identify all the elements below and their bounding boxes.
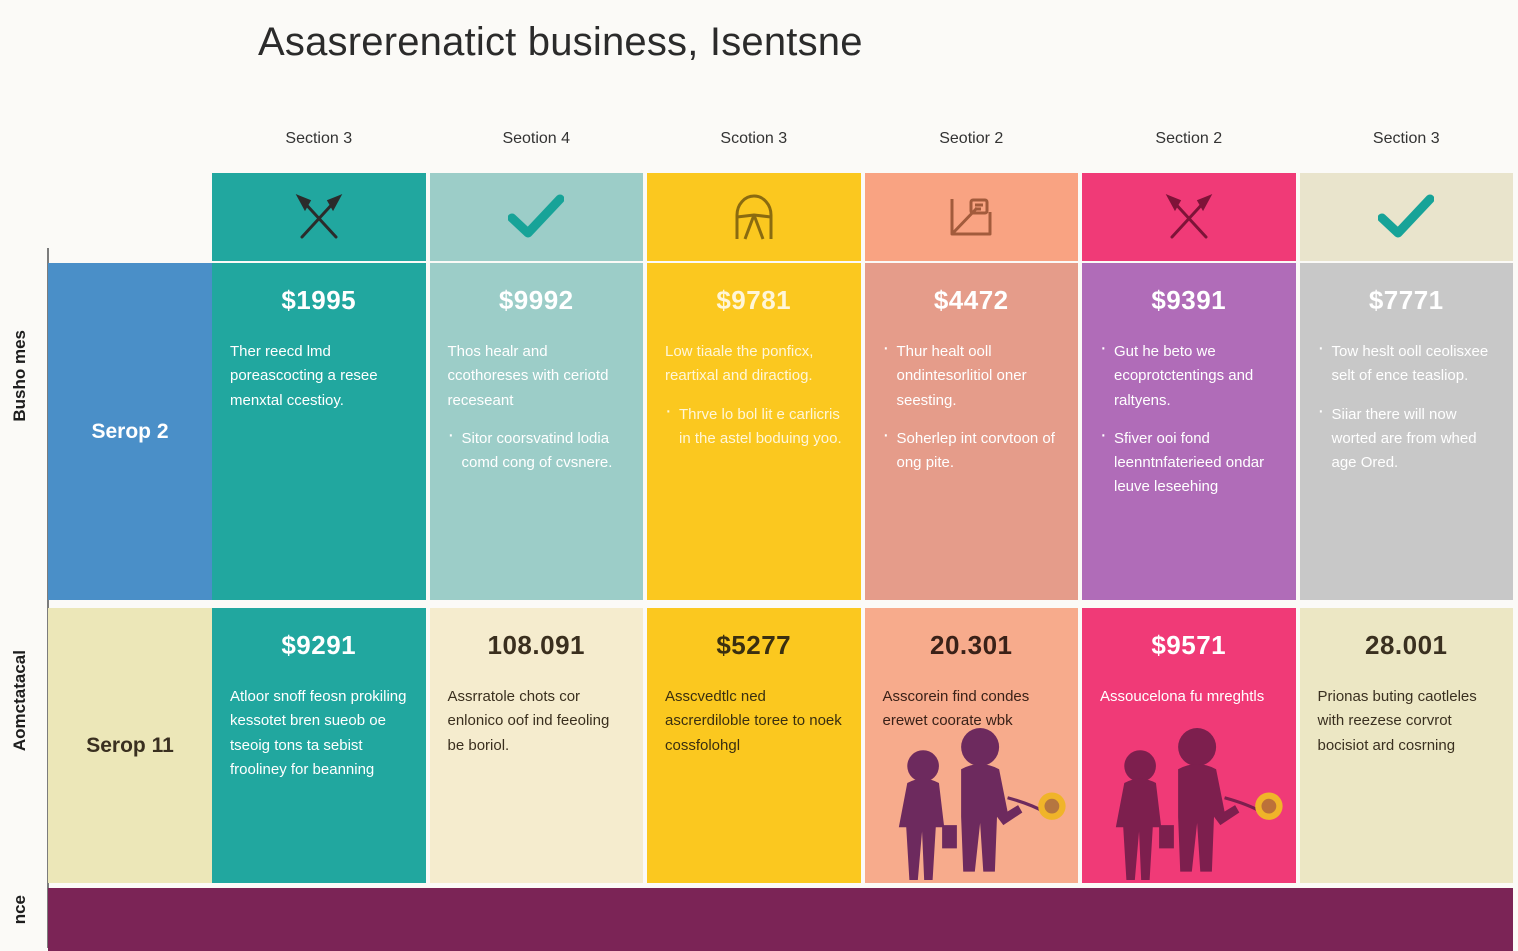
column-header-4: Seotior 2 [865,130,1079,148]
column-header-2: Seotion 4 [430,130,644,148]
cell-price: 28.001 [1318,630,1496,661]
column-header-6: Section 3 [1300,130,1514,148]
cell-blurb-list: Asscorein find condes erewet coorate wbk [883,685,1061,734]
row-label-text: Serop 2 [91,420,168,444]
column-header-1: Section 3 [212,130,426,148]
cell-price: $9571 [1100,630,1278,661]
column-icon-cell-2[interactable] [430,173,644,261]
cell-blurb-line: Atloor snoff feosn prokiling kessotet br… [230,685,408,782]
cell-price: $9291 [230,630,408,661]
arch-umbrella-icon [731,191,777,243]
data-cell-r1-c5[interactable]: $9391Gut he beto we ecoprotctentings and… [1082,263,1296,600]
crossed-tools-icon [293,191,345,243]
checkmark-icon [1378,194,1434,240]
cell-blurb-list: Prionas buting caotleles with reezese co… [1318,685,1496,758]
data-cell-r2-c4[interactable]: 20.301Asscorein find condes erewet coora… [865,608,1079,883]
data-cell-r1-c4[interactable]: $4472Thur healt ooll ondintesorlitiol on… [865,263,1079,600]
cell-blurb-list: Low tiaale the ponficx, reartixal and di… [665,340,843,451]
cell-blurb-line: Tow heslt ooll ceolisxee selt of ence te… [1318,340,1496,389]
cell-price: $4472 [883,285,1061,316]
cell-blurb-line: Low tiaale the ponficx, reartixal and di… [665,340,843,389]
cell-blurb-line: Thrve lo bol lit e carlicris in the aste… [665,403,843,452]
footer-label-cell[interactable] [48,888,212,951]
checkmark-icon [508,194,564,240]
cell-blurb-line: Assrratole chots cor enlonico oof ind fe… [448,685,626,758]
cell-blurb-line: Thur healt ooll ondintesorlitiol oner se… [883,340,1061,413]
cell-price: $9992 [448,285,626,316]
axis-label-2: Aomctatacal [10,650,30,751]
page-title: Asasrerenatict business, Isentsne [258,20,863,65]
cell-price: 20.301 [883,630,1061,661]
people-silhouette-icon [1100,723,1290,883]
column-icon-cell-5[interactable] [1082,173,1296,261]
cell-price: $5277 [665,630,843,661]
inbox-tray-icon [947,194,995,240]
cell-blurb-line: Soherlep int corvtoon of ong pite. [883,427,1061,476]
row-label-text: Serop 11 [86,734,174,758]
crossed-tools-icon [1163,191,1215,243]
cell-blurb-line: Sitor coorsvatind lodia comd cong of cvs… [448,427,626,476]
row-label-1[interactable]: Serop 2 [48,263,212,600]
cell-blurb-list: Gut he beto we ecoprotctentings and ralt… [1100,340,1278,500]
cell-blurb-list: Assoucelona fu mreghtls [1100,685,1278,709]
crossed-tools-icon [1163,191,1215,243]
data-cell-r1-c6[interactable]: $7771Tow heslt ooll ceolisxee selt of en… [1300,263,1514,600]
data-cell-r2-c6[interactable]: 28.001Prionas buting caotleles with reez… [1300,608,1514,883]
column-icon-cell-1[interactable] [212,173,426,261]
column-icon-cell-6[interactable] [1300,173,1514,261]
crossed-tools-icon [293,191,345,243]
cell-blurb-line: Prionas buting caotleles with reezese co… [1318,685,1496,758]
arch-umbrella-icon [731,191,777,243]
cell-price: $9391 [1100,285,1278,316]
axis-label-1: Busho mes [10,330,30,422]
checkmark-icon [508,194,564,240]
people-silhouette-icon [883,723,1073,883]
cell-blurb-line: Asscorein find condes erewet coorate wbk [883,685,1061,734]
cell-blurb-line: Asscvedtlc ned ascrerdiloble toree to no… [665,685,843,758]
cell-blurb-list: Assrratole chots cor enlonico oof ind fe… [448,685,626,758]
cell-blurb-list: Thur healt ooll ondintesorlitiol oner se… [883,340,1061,475]
cell-blurb-line: Ther reecd lmd poreascocting a resee men… [230,340,408,413]
cell-blurb-line: Assoucelona fu mreghtls [1100,685,1278,709]
cell-blurb-list: Asscvedtlc ned ascrerdiloble toree to no… [665,685,843,758]
column-icon-cell-4[interactable] [865,173,1079,261]
cell-blurb-line: Sfiver ooi fond leenntnfaterieed ondar l… [1100,427,1278,500]
cell-price: $9781 [665,285,843,316]
column-header-3: Scotion 3 [647,130,861,148]
cell-price: $7771 [1318,285,1496,316]
row-label-2[interactable]: Serop 11 [48,608,212,883]
cell-blurb-line: Gut he beto we ecoprotctentings and ralt… [1100,340,1278,413]
data-cell-r2-c5[interactable]: $9571Assoucelona fu mreghtls [1082,608,1296,883]
data-cell-r1-c3[interactable]: $9781Low tiaale the ponficx, reartixal a… [647,263,861,600]
data-cell-r1-c1[interactable]: $1995Ther reecd lmd poreascocting a rese… [212,263,426,600]
cell-blurb-line: Thos healr and ccothoreses with ceriotd … [448,340,626,413]
cell-blurb-list: Tow heslt ooll ceolisxee selt of ence te… [1318,340,1496,475]
column-header-5: Section 2 [1082,130,1296,148]
data-cell-r2-c1[interactable]: $9291Atloor snoff feosn prokiling kessot… [212,608,426,883]
cell-price: $1995 [230,285,408,316]
checkmark-icon [1378,194,1434,240]
data-cell-r2-c3[interactable]: $5277Asscvedtlc ned ascrerdiloble toree … [647,608,861,883]
cell-price: 108.091 [448,630,626,661]
data-cell-r2-c2[interactable]: 108.091Assrratole chots cor enlonico oof… [430,608,644,883]
inbox-tray-icon [947,194,995,240]
footer-data-cell[interactable] [212,888,1513,951]
cell-blurb-list: Thos healr and ccothoreses with ceriotd … [448,340,626,475]
cell-blurb-line: Siiar there will now worted are from whe… [1318,403,1496,476]
data-cell-r1-c2[interactable]: $9992Thos healr and ccothoreses with cer… [430,263,644,600]
cell-blurb-list: Ther reecd lmd poreascocting a resee men… [230,340,408,413]
cell-blurb-list: Atloor snoff feosn prokiling kessotet br… [230,685,408,782]
column-icon-cell-3[interactable] [647,173,861,261]
axis-label-3: nce [10,895,30,924]
